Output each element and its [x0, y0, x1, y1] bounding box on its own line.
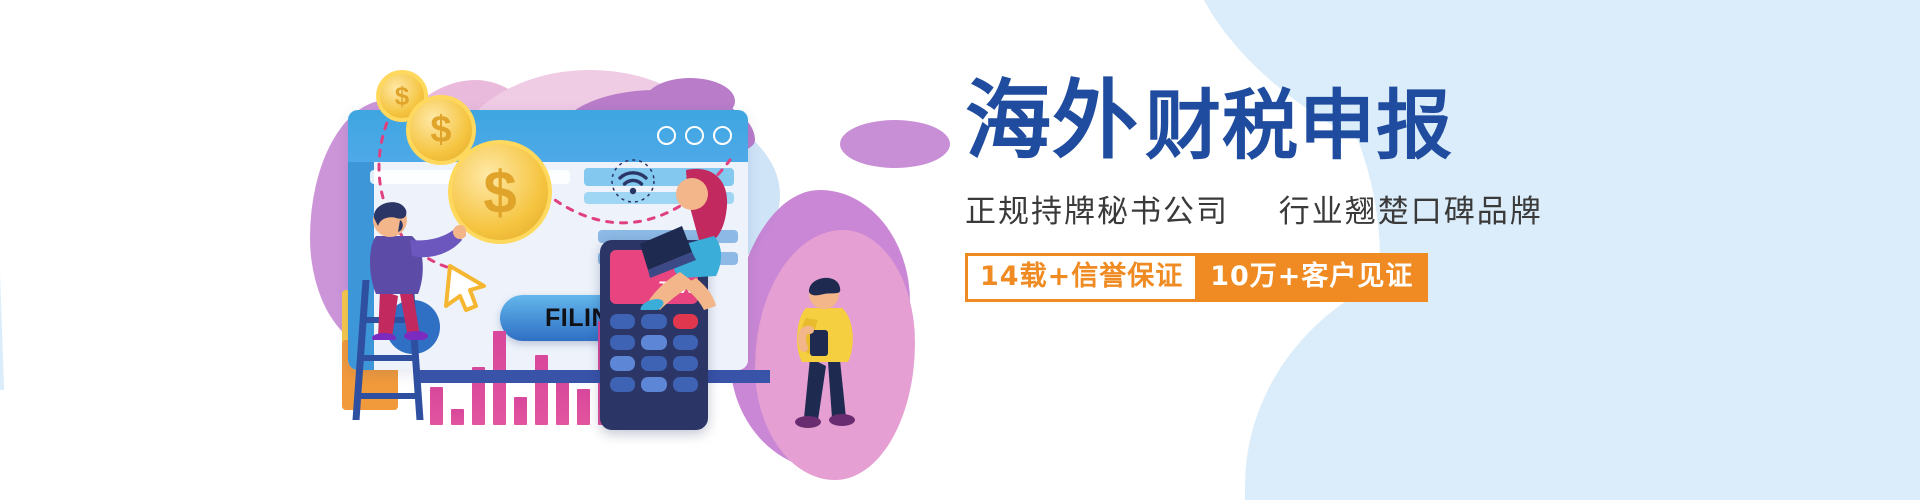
calculator-key: [641, 377, 666, 392]
calculator-key: [610, 314, 635, 329]
status-badge-years: 14载+信誉保证: [965, 253, 1195, 302]
page-title: 海外 财税申报: [965, 78, 1665, 164]
window-dot-icon: [657, 126, 676, 145]
calculator-key: [641, 356, 666, 371]
headline-part-2: 财税申报: [1145, 88, 1453, 164]
coin-symbol: $: [430, 109, 451, 152]
calculator-key: [673, 335, 698, 350]
calculator-key: [641, 314, 666, 329]
calculator-keypad: [610, 314, 698, 392]
window-dot-icon: [713, 126, 732, 145]
status-badge-customers: 10万+客户见证: [1195, 253, 1428, 302]
window-dot-icon: [685, 126, 704, 145]
decorative-cloud-purple-right: [840, 120, 950, 168]
calculator-key: [610, 335, 635, 350]
illustration: FILING $ $ $: [300, 40, 940, 460]
coin-symbol: $: [483, 158, 516, 227]
chart-baseline: [420, 370, 770, 383]
window-controls: [657, 126, 732, 145]
calculator-key: [673, 377, 698, 392]
person-with-phone-illustration: [780, 270, 870, 430]
headline-part-1: 海外: [965, 78, 1139, 164]
calculator-key: [673, 356, 698, 371]
coin-symbol: $: [395, 81, 409, 112]
subtitle-right: 行业翘楚口碑品牌: [1279, 194, 1543, 230]
badge-group: 14载+信誉保证 10万+客户见证: [965, 253, 1665, 302]
person-placing-coin-illustration: [346, 190, 466, 340]
subtitle-left: 正规持牌秘书公司: [965, 194, 1229, 230]
subtitle: 正规持牌秘书公司 行业翘楚口碑品牌: [965, 186, 1665, 231]
banner-root: FILING $ $ $: [0, 0, 1920, 500]
calculator-key: [641, 335, 666, 350]
text-block: 海外 财税申报 正规持牌秘书公司 行业翘楚口碑品牌 14载+信誉保证 10万+客…: [965, 78, 1665, 302]
calculator-key: [610, 356, 635, 371]
calculator-key: [610, 377, 635, 392]
calculator-key: [673, 314, 698, 329]
person-with-laptop-illustration: [630, 160, 750, 310]
